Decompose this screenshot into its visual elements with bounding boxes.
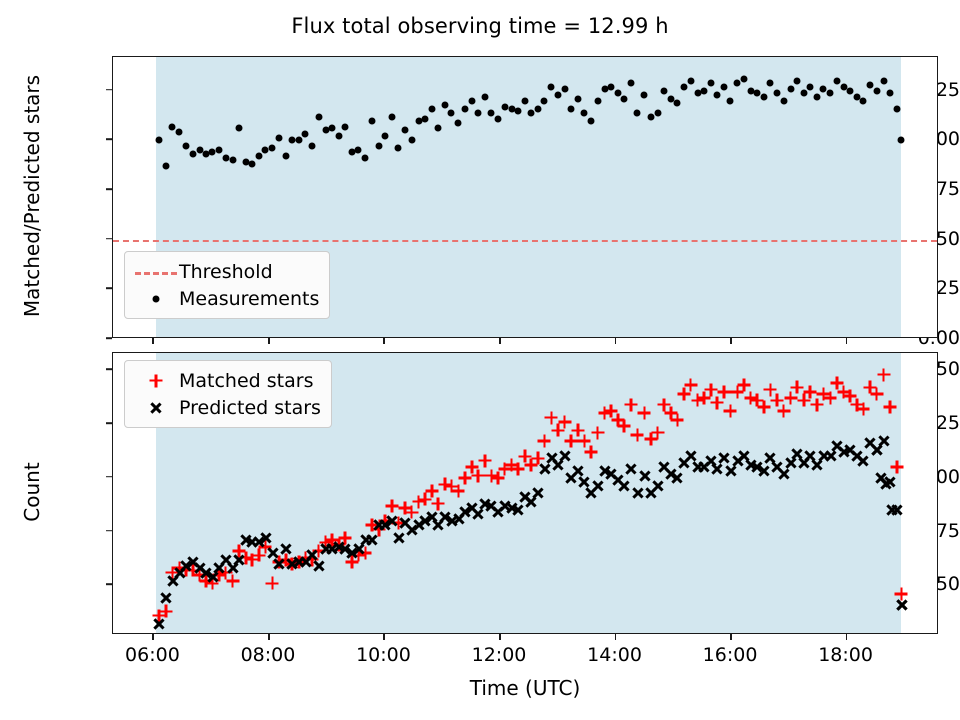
data-point [222, 155, 229, 162]
data-point [435, 125, 442, 132]
data-point [448, 109, 455, 116]
legend-entry-threshold[interactable]: Threshold [133, 258, 319, 285]
data-point [156, 137, 163, 144]
data-point [718, 452, 731, 465]
data-point [634, 109, 641, 116]
x-tick-label: 14:00 [587, 644, 642, 666]
data-point [727, 97, 734, 104]
data-point [535, 105, 542, 112]
matched-stars-plus-swatch [133, 371, 179, 391]
x-tick-mark [846, 338, 848, 344]
data-point [468, 97, 475, 104]
y-axis-label-top: Matched/Predicted stars [20, 55, 44, 337]
data-point [408, 137, 415, 144]
data-point [740, 75, 747, 82]
data-point [558, 450, 571, 463]
x-tick-mark [846, 634, 848, 640]
data-point [618, 480, 631, 493]
data-point [328, 125, 335, 132]
threshold-line [113, 240, 937, 242]
data-point [628, 79, 635, 86]
x-tick-label: 08:00 [241, 644, 296, 666]
data-point [368, 117, 375, 124]
data-point [392, 532, 405, 545]
data-point [545, 411, 558, 424]
measurements-dot-swatch [133, 289, 179, 309]
data-point [558, 415, 571, 428]
data-point [820, 85, 827, 92]
data-point [385, 514, 398, 527]
data-point [514, 107, 521, 114]
data-point [895, 598, 908, 611]
data-point [704, 383, 717, 396]
x-tick-mark [615, 338, 617, 344]
data-point [754, 89, 761, 96]
data-point [385, 499, 398, 512]
data-point [511, 504, 524, 517]
data-point [442, 101, 449, 108]
data-point [890, 461, 903, 474]
data-point [618, 420, 631, 433]
data-point [614, 89, 621, 96]
data-point [883, 400, 896, 413]
data-point [631, 428, 644, 441]
x-tick-mark [268, 338, 270, 344]
data-point [388, 113, 395, 120]
data-point [295, 137, 302, 144]
x-tick-mark [268, 634, 270, 640]
data-point [425, 484, 438, 497]
data-point [824, 392, 837, 405]
x-tick-mark [499, 634, 501, 640]
data-point [625, 398, 638, 411]
data-point [757, 465, 770, 478]
data-point [315, 113, 322, 120]
data-point [541, 97, 548, 104]
data-point [661, 87, 668, 94]
data-point [638, 469, 651, 482]
data-point [272, 557, 285, 570]
data-point [501, 103, 508, 110]
data-point [216, 147, 223, 154]
data-point [235, 125, 242, 132]
data-point [249, 161, 256, 168]
data-point [700, 87, 707, 94]
data-point [262, 147, 269, 154]
data-point [714, 91, 721, 98]
x-tick-mark [152, 338, 154, 344]
data-point [807, 83, 814, 90]
data-point [877, 368, 890, 381]
data-point [814, 93, 821, 100]
x-tick-mark [383, 634, 385, 640]
data-point [312, 560, 325, 573]
data-point [189, 151, 196, 158]
figure-title: Flux total observing time = 12.99 h [0, 14, 960, 38]
data-point [355, 147, 362, 154]
data-point [857, 402, 870, 415]
data-point [478, 454, 491, 467]
data-point [885, 504, 898, 517]
x-tick-label: 18:00 [818, 644, 873, 666]
data-point [581, 109, 588, 116]
data-point [532, 486, 545, 499]
data-point [528, 109, 535, 116]
data-point [873, 87, 880, 94]
data-point [760, 93, 767, 100]
legend-label-threshold: Threshold [179, 261, 273, 283]
data-point [847, 87, 854, 94]
data-point [625, 463, 638, 476]
data-point [870, 387, 883, 400]
legend-entry-predicted-stars[interactable]: Predicted stars [133, 394, 321, 421]
data-point [561, 85, 568, 92]
data-point [182, 143, 189, 150]
data-point [169, 123, 176, 130]
x-tick-mark [383, 338, 385, 344]
data-point [707, 79, 714, 86]
data-point [554, 91, 561, 98]
data-point [591, 426, 604, 439]
data-point [594, 97, 601, 104]
data-point [621, 95, 628, 102]
data-point [342, 123, 349, 130]
data-point [585, 446, 598, 459]
legend-entry-measurements[interactable]: Measurements [133, 285, 319, 312]
data-point [607, 83, 614, 90]
legend-label-measurements: Measurements [179, 288, 319, 310]
figure-canvas: Flux total observing time = 12.99 h Matc… [0, 0, 960, 720]
data-point [266, 577, 279, 590]
x-tick-label: 12:00 [472, 644, 527, 666]
data-point [488, 109, 495, 116]
data-point [538, 435, 551, 448]
threshold-line-swatch [133, 262, 179, 282]
data-point [176, 129, 183, 136]
x-tick-mark [152, 634, 154, 640]
data-point [898, 137, 905, 144]
data-point [452, 484, 465, 497]
data-point [893, 105, 900, 112]
data-point [302, 131, 309, 138]
data-point [774, 89, 781, 96]
data-point [790, 381, 803, 394]
legend-label-predicted-stars: Predicted stars [179, 397, 321, 419]
data-point [651, 480, 664, 493]
legend-ratio-panel[interactable]: Threshold Measurements [124, 251, 330, 319]
data-point [591, 480, 604, 493]
data-point [259, 532, 272, 545]
data-point [362, 155, 369, 162]
x-tick-label: 10:00 [356, 644, 411, 666]
data-point [229, 157, 236, 164]
data-point [232, 553, 245, 566]
data-point [879, 478, 892, 491]
data-point [382, 133, 389, 140]
data-point [793, 77, 800, 84]
data-point [804, 385, 817, 398]
data-point [160, 592, 173, 605]
legend-entry-matched-stars[interactable]: Matched stars [133, 367, 321, 394]
data-point [684, 379, 697, 392]
data-point [226, 575, 239, 588]
data-point [780, 97, 787, 104]
data-point [432, 497, 445, 510]
data-point [402, 127, 409, 134]
x-axis-label: Time (UTC) [112, 676, 938, 700]
x-tick-label: 16:00 [703, 644, 758, 666]
data-point [860, 97, 867, 104]
legend-count-panel[interactable]: Matched stars Predicted stars [124, 360, 332, 428]
data-point [641, 91, 648, 98]
data-point [209, 149, 216, 156]
data-point [309, 143, 316, 150]
data-point [160, 605, 173, 618]
data-point [153, 618, 166, 631]
data-point [455, 119, 462, 126]
data-point [256, 153, 263, 160]
data-point [279, 542, 292, 555]
data-point [495, 115, 502, 122]
data-point [867, 81, 874, 88]
data-point [886, 89, 893, 96]
data-point [269, 145, 276, 152]
data-point [588, 117, 595, 124]
data-point [163, 163, 170, 170]
data-point [335, 133, 342, 140]
data-point [674, 99, 681, 106]
data-point [777, 405, 790, 418]
data-point [681, 83, 688, 90]
data-point [428, 105, 435, 112]
data-point [511, 463, 524, 476]
data-point [800, 89, 807, 96]
data-point [481, 93, 488, 100]
data-point [721, 83, 728, 90]
data-point [857, 454, 870, 467]
data-point [787, 85, 794, 92]
data-point [827, 89, 834, 96]
data-point [638, 407, 651, 420]
x-tick-mark [730, 634, 732, 640]
data-point [687, 77, 694, 84]
data-point [724, 405, 737, 418]
y-axis-label-bottom: Count [20, 351, 44, 633]
data-point [568, 105, 575, 112]
data-point [647, 113, 654, 120]
data-point [275, 135, 282, 142]
data-point [737, 379, 750, 392]
data-point [767, 79, 774, 86]
x-tick-mark [730, 338, 732, 344]
legend-label-matched-stars: Matched stars [179, 370, 313, 392]
data-point [375, 143, 382, 150]
data-point [574, 95, 581, 102]
data-point [521, 97, 528, 104]
data-point [631, 486, 644, 499]
data-point [461, 105, 468, 112]
data-point [282, 153, 289, 160]
data-point [757, 400, 770, 413]
data-point [472, 469, 485, 482]
data-point [671, 471, 684, 484]
data-point [870, 443, 883, 456]
data-point [475, 109, 482, 116]
predicted-stars-cross-swatch [133, 398, 179, 418]
data-point [880, 77, 887, 84]
data-point [833, 77, 840, 84]
data-point [654, 109, 661, 116]
data-point [671, 413, 684, 426]
x-tick-mark [499, 338, 501, 344]
x-tick-mark [615, 634, 617, 640]
data-point [421, 115, 428, 122]
data-point [718, 385, 731, 398]
data-point [395, 145, 402, 152]
data-point [548, 83, 555, 90]
x-tick-label: 06:00 [125, 644, 180, 666]
data-point [365, 534, 378, 547]
data-point [651, 426, 664, 439]
